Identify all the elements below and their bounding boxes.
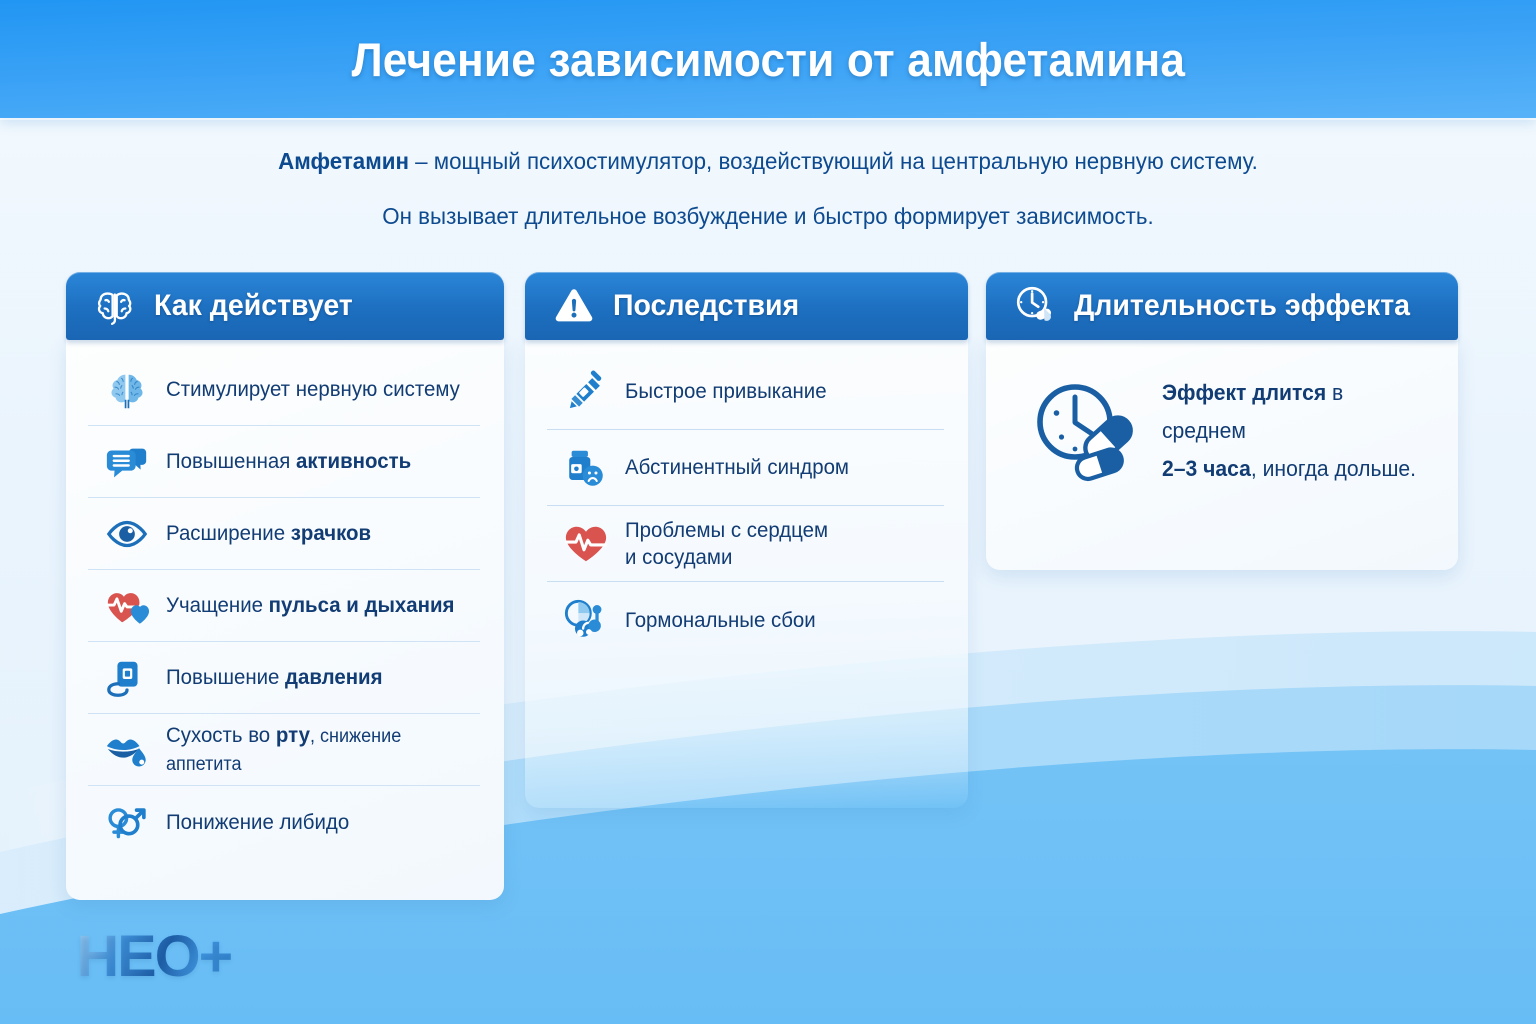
brand-logo: HEO+ [76, 923, 231, 990]
list-item[interactable]: Расширение зрачков [88, 498, 480, 570]
card-consequences-body: Быстрое привыкание Абстинентный с [525, 340, 968, 808]
heart-ecg-icon [561, 519, 611, 569]
list-item[interactable]: Понижение либидо [88, 786, 480, 858]
clock-capsules-icon [1028, 375, 1140, 487]
gender-symbols-icon [102, 797, 152, 847]
list-item-label: Расширение зрачков [166, 520, 371, 547]
brain-icon [92, 283, 138, 329]
list-item-label: Повышенная активность [166, 448, 411, 475]
card-duration-body: Эффект длится в среднем 2–3 часа, иногда… [986, 340, 1458, 570]
lips-drop-icon [102, 725, 152, 775]
pill-bottle-sad-face-icon [561, 443, 611, 493]
speech-bubbles-icon [102, 437, 152, 487]
page-banner: Лечение зависимости от амфетамина [0, 0, 1536, 118]
list-item[interactable]: Повышенная активность [88, 426, 480, 498]
intro-line-2: Он вызывает длительное возбуждение и быс… [38, 193, 1497, 239]
card-how-body: Стимулирует нервную систему Повышенная а [66, 340, 504, 900]
syringe-icon [561, 367, 611, 417]
list-item[interactable]: Учащение пульса и дыхания [88, 570, 480, 642]
intro-term: Амфетамин [278, 148, 409, 174]
card-how-it-works: Как действует Стимулирует нервную систем… [66, 272, 504, 900]
card-duration: Длительность эффекта [986, 272, 1458, 570]
card-how-header: Как действует [66, 272, 504, 340]
list-item[interactable]: Абстинентный синдром [547, 430, 944, 506]
list-item[interactable]: Проблемы с сердцем и сосудами [547, 506, 944, 582]
list-item[interactable]: Повышение давления [88, 642, 480, 714]
list-item-label: Проблемы с сердцем и сосудами [625, 517, 828, 571]
intro-block: Амфетамин – мощный психостимулятор, возд… [0, 138, 1536, 239]
list-item-label: Абстинентный синдром [625, 454, 849, 481]
eye-icon [102, 509, 152, 559]
card-consequences: Последствия Быстрое пр [525, 272, 968, 808]
list-item[interactable]: Гормональные сбои [547, 582, 944, 658]
list-item[interactable]: Стимулирует нервную систему [88, 354, 480, 426]
card-consequences-title: Последствия [613, 289, 799, 323]
card-consequences-header: Последствия [525, 272, 968, 340]
heart-pulse-icon [102, 581, 152, 631]
infographic-page: Лечение зависимости от амфетамина Амфета… [0, 0, 1536, 1024]
card-duration-title: Длительность эффекта [1074, 289, 1410, 323]
list-item-label: Учащение пульса и дыхания [166, 592, 454, 619]
card-how-title: Как действует [154, 289, 353, 323]
list-item-label: Стимулирует нервную систему [166, 376, 460, 403]
blood-pressure-monitor-icon [102, 653, 152, 703]
page-title: Лечение зависимости от амфетамина [351, 32, 1185, 87]
list-item-label: Гормональные сбои [625, 607, 816, 634]
clock-pills-icon [1012, 283, 1058, 329]
list-item-label: Повышение давления [166, 664, 383, 691]
list-item-label: Понижение либидо [166, 809, 349, 836]
intro-line-1: Амфетамин – мощный психостимулятор, возд… [38, 138, 1497, 184]
hormone-molecule-icon [561, 595, 611, 645]
list-item-label: Быстрое привыкание [625, 378, 827, 405]
intro-line-1-rest: – мощный психостимулятор, воздействующий… [409, 148, 1258, 174]
list-item[interactable]: Сухость во рту, снижение аппетита [88, 714, 480, 786]
duration-text: Эффект длится в среднем 2–3 часа, иногда… [1162, 374, 1417, 488]
card-duration-header: Длительность эффекта [986, 272, 1458, 340]
list-item-label: Сухость во рту, снижение аппетита [166, 722, 464, 778]
brain-icon [102, 365, 152, 415]
list-item[interactable]: Быстрое привыкание [547, 354, 944, 430]
warning-triangle-icon [551, 283, 597, 329]
